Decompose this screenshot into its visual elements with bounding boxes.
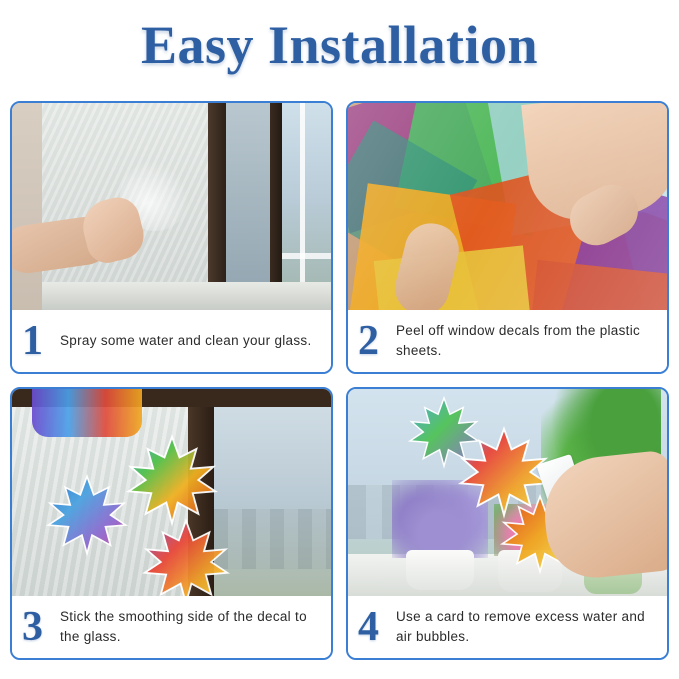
installation-infographic: Easy Installation 1 Spray some water and… [0,0,679,679]
step-card-4: 4 Use a card to remove excess water and … [346,387,669,660]
glossy-highlight [348,103,667,312]
step-1-photo [12,103,331,312]
decal-strip [32,389,142,437]
step-3-photo [12,389,331,598]
step-4-photo [348,389,667,598]
step-2-text: Peel off window decals from the plastic … [396,321,659,360]
page-title: Easy Installation [0,14,679,76]
step-2-photo [348,103,667,312]
step-card-3: 3 Stick the smoothing side of the decal … [10,387,333,660]
step-3-number: 3 [22,606,60,648]
maple-leaf-decal [124,433,220,527]
maple-leaf-decal [140,517,232,598]
step-4-text: Use a card to remove excess water and ai… [396,607,659,646]
window-pane-right [226,103,270,312]
step-card-2: 2 Peel off window decals from the plasti… [346,101,669,374]
step-1-number: 1 [22,320,60,362]
step-2-number: 2 [358,320,396,362]
step-1-caption: 1 Spray some water and clean your glass. [12,310,331,372]
wall-left [12,103,42,312]
maple-leaf-decal [44,473,130,557]
window-sill [42,282,331,312]
step-3-text: Stick the smoothing side of the decal to… [60,607,323,646]
step-4-caption: 4 Use a card to remove excess water and … [348,596,667,658]
step-card-1: 1 Spray some water and clean your glass. [10,101,333,374]
window-frame-vertical-1 [208,103,226,312]
window-grid-bars [282,103,331,312]
step-4-number: 4 [358,606,396,648]
step-3-caption: 3 Stick the smoothing side of the decal … [12,596,331,658]
steps-grid: 1 Spray some water and clean your glass. [10,101,669,671]
window-frame-vertical-2 [270,103,282,312]
step-2-caption: 2 Peel off window decals from the plasti… [348,310,667,372]
step-1-text: Spray some water and clean your glass. [60,331,312,351]
flower-pot [406,550,474,590]
